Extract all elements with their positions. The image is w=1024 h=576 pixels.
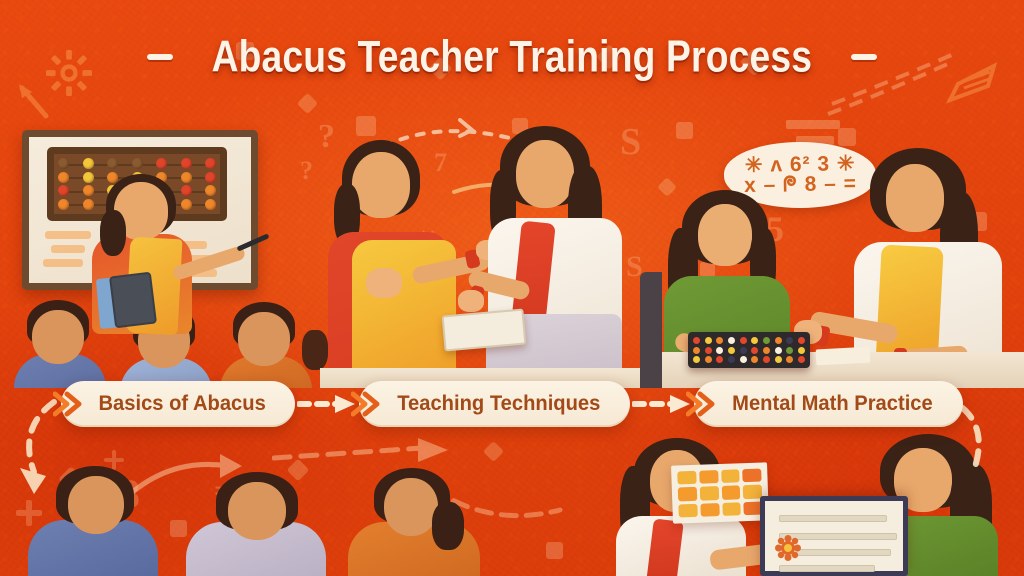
bottom-scene-layer	[0, 430, 1024, 576]
trainer-yellow-saree-figure	[326, 140, 476, 388]
certificate-seal-icon	[775, 535, 801, 561]
student-figure	[228, 302, 324, 388]
step-label: Basics of Abacus	[98, 392, 265, 416]
trainer-white-kurta-figure	[472, 126, 644, 388]
abacus-row	[58, 157, 216, 170]
step-label: Teaching Techniques	[397, 392, 600, 416]
tablet-device	[109, 272, 157, 329]
board-scribble	[51, 245, 85, 253]
step-label: Mental Math Practice	[733, 392, 934, 416]
certificate-handover-scene	[560, 430, 1024, 576]
step-badge-teaching-techniques[interactable]: Teaching Techniques	[359, 381, 631, 427]
paper-slip	[816, 347, 871, 366]
certificate	[760, 496, 908, 576]
dashed-arrow-connector	[295, 391, 359, 417]
dashed-arrow-right-icon	[632, 393, 692, 415]
desk-abacus-icon	[688, 332, 810, 368]
panel-peer-teaching	[320, 112, 650, 388]
certificate-line	[779, 565, 875, 572]
notebook	[442, 308, 527, 351]
chevron-right-icon	[686, 391, 716, 417]
abacus-chart-poster	[671, 462, 769, 523]
audience-learner	[28, 466, 158, 576]
abacus-row	[693, 356, 805, 363]
abacus-row	[693, 347, 805, 354]
audience-learner	[348, 468, 480, 576]
step-badge-mental-math-practice[interactable]: Mental Math Practice	[694, 381, 963, 427]
certificate-line	[779, 515, 887, 522]
chevron-right-icon	[351, 391, 381, 417]
panel-classroom-training	[0, 112, 330, 388]
audience-learner	[186, 472, 326, 576]
panel-mental-math-session: ✳ ᴧ 6² 3 ✳ x – ᖘ 8 – =	[640, 112, 1024, 388]
board-scribble	[43, 259, 83, 267]
dashed-arrow-connector	[630, 391, 694, 417]
step-badge-basics-of-abacus[interactable]: Basics of Abacus	[61, 381, 295, 427]
chevron-right-icon	[53, 391, 83, 417]
poster-canvas: ? ? S S 5 7 8 × × =	[0, 0, 1024, 576]
dashed-arrow-right-icon	[297, 393, 357, 415]
chair-back	[640, 272, 662, 388]
abacus-row	[693, 337, 805, 344]
